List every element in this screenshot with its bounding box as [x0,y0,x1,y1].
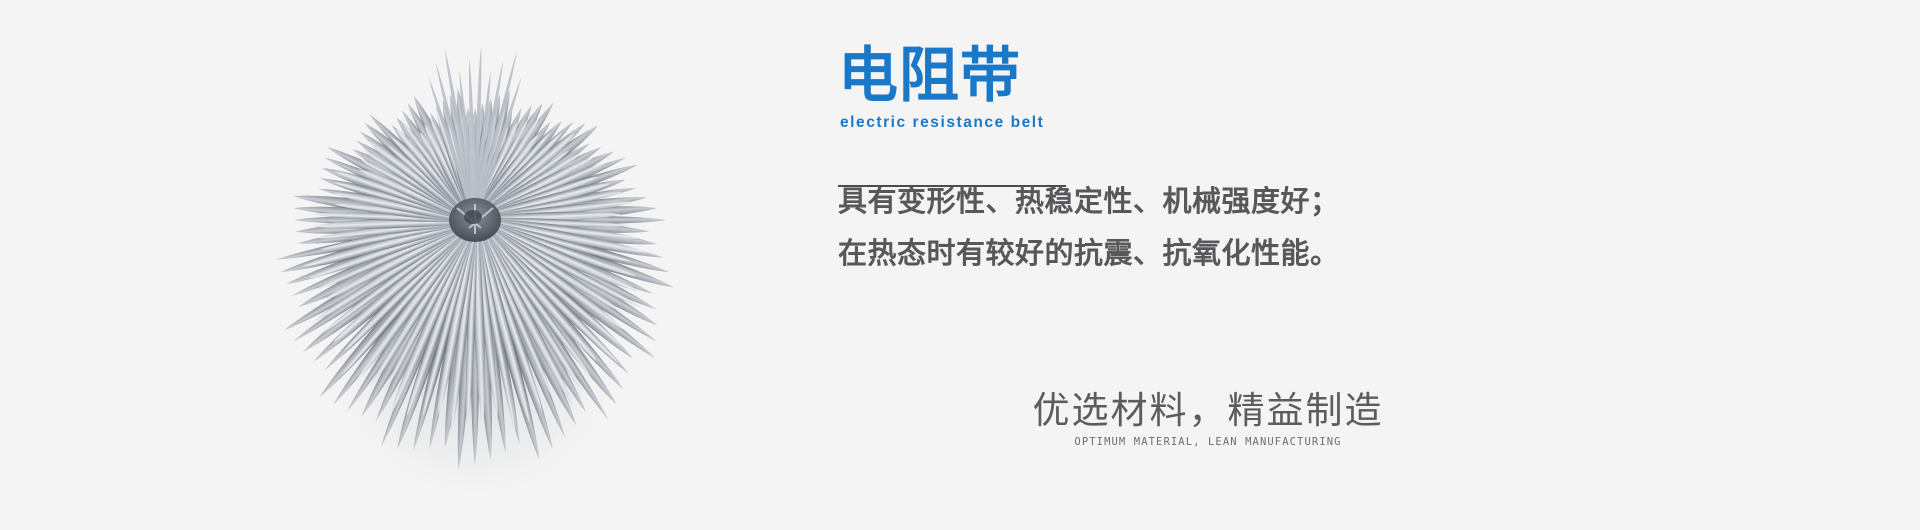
page-title: 电阻带 [838,44,1258,108]
slogan-english: OPTIMUM MATERIAL, LEAN MANUFACTURING [998,436,1418,448]
slogan-block: 优选材料，精益制造 OPTIMUM MATERIAL, LEAN MANUFAC… [998,390,1418,448]
product-banner: 电阻带 electric resistance belt 具有变形性、热稳定性、… [0,0,1920,530]
slogan-chinese: 优选材料，精益制造 [998,390,1418,433]
feature-list: 具有变形性、热稳定性、机械强度好； 在热态时有较好的抗震、抗氧化性能。 [838,188,1538,269]
page-subtitle: electric resistance belt [840,114,1258,132]
feature-line: 在热态时有较好的抗震、抗氧化性能。 [838,240,1538,269]
feature-line: 具有变形性、热稳定性、机械强度好； [838,188,1538,217]
resistance-belt-burst-graphic [275,35,675,495]
product-image [275,35,675,495]
banner-content: 电阻带 electric resistance belt 具有变形性、热稳定性、… [838,0,1838,530]
title-block: 电阻带 electric resistance belt [838,44,1258,132]
